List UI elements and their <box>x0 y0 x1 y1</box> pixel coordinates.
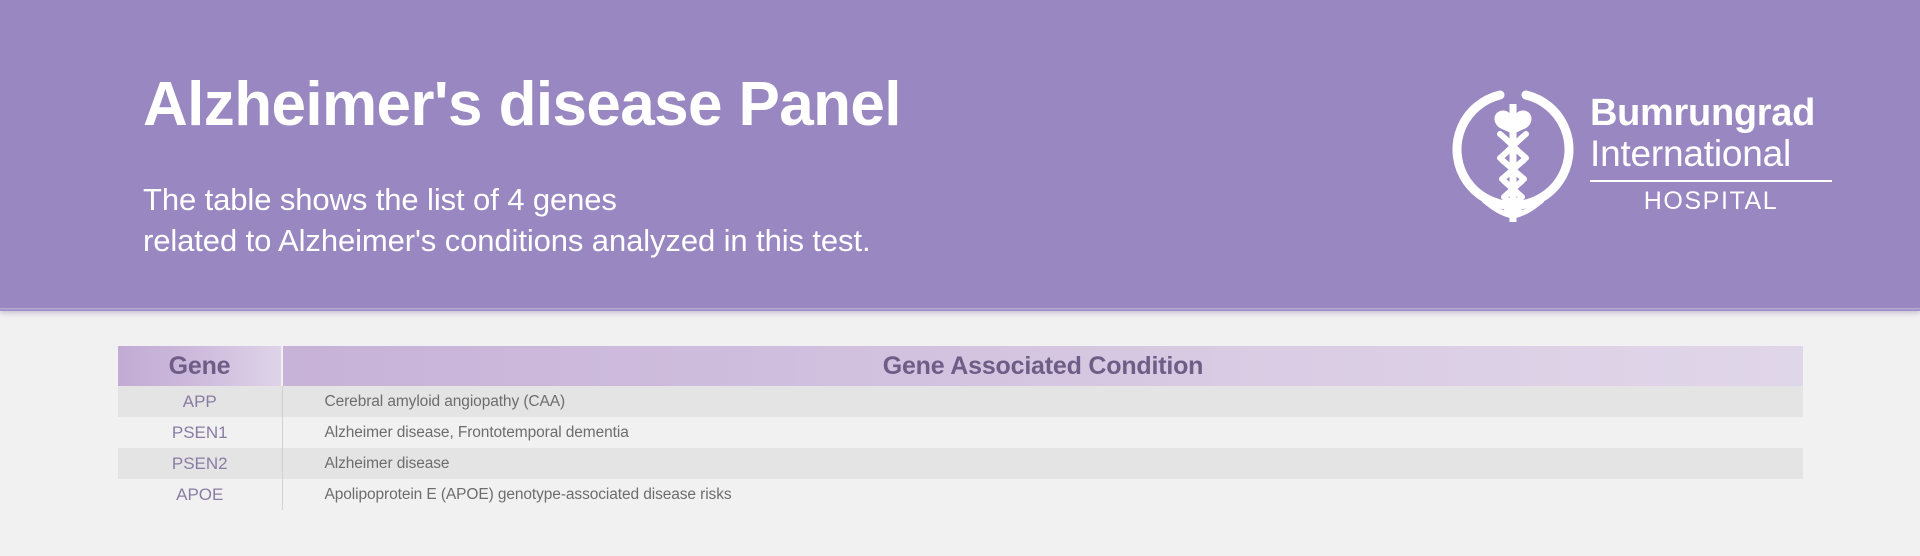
cell-gene: PSEN2 <box>118 448 282 479</box>
hero-bottom-sheen <box>0 308 1920 311</box>
cell-condition: Cerebral amyloid angiopathy (CAA) <box>282 386 1803 417</box>
page-subtitle-line-2: related to Alzheimer's conditions analyz… <box>143 220 871 261</box>
cell-gene: APOE <box>118 479 282 510</box>
logo-divider <box>1590 180 1832 182</box>
cell-condition: Alzheimer disease, Frontotemporal dement… <box>282 417 1803 448</box>
page-subtitle: The table shows the list of 4 genes rela… <box>143 179 871 261</box>
column-header-condition: Gene Associated Condition <box>282 346 1803 386</box>
logo-wordmark: Bumrungrad International HOSPITAL <box>1574 84 1832 216</box>
table-row: PSEN1 Alzheimer disease, Frontotemporal … <box>118 417 1803 448</box>
hospital-logo: Bumrungrad International HOSPITAL <box>1452 84 1832 230</box>
page-subtitle-line-1: The table shows the list of 4 genes <box>143 179 871 220</box>
column-header-gene: Gene <box>118 346 282 386</box>
gene-table-body: APP Cerebral amyloid angiopathy (CAA) PS… <box>118 386 1803 510</box>
gene-panel: Gene Gene Associated Condition APP Cereb… <box>118 346 1803 510</box>
table-row: APOE Apolipoprotein E (APOE) genotype-as… <box>118 479 1803 510</box>
cell-gene: APP <box>118 386 282 417</box>
gene-table: Gene Gene Associated Condition APP Cereb… <box>118 346 1803 510</box>
table-header-row: Gene Gene Associated Condition <box>118 346 1803 386</box>
page-title: Alzheimer's disease Panel <box>143 72 901 137</box>
table-row: PSEN2 Alzheimer disease <box>118 448 1803 479</box>
cell-condition: Apolipoprotein E (APOE) genotype-associa… <box>282 479 1803 510</box>
logo-brand-qualifier: International <box>1590 134 1832 173</box>
panel-page: Alzheimer's disease Panel The table show… <box>0 0 1920 556</box>
logo-brand-name: Bumrungrad <box>1590 94 1832 132</box>
gene-table-head: Gene Gene Associated Condition <box>118 346 1803 386</box>
cell-gene: PSEN1 <box>118 417 282 448</box>
logo-brand-type: HOSPITAL <box>1590 187 1832 216</box>
cell-condition: Alzheimer disease <box>282 448 1803 479</box>
table-row: APP Cerebral amyloid angiopathy (CAA) <box>118 386 1803 417</box>
caduceus-icon <box>1452 86 1574 226</box>
hero-banner: Alzheimer's disease Panel The table show… <box>0 0 1920 311</box>
